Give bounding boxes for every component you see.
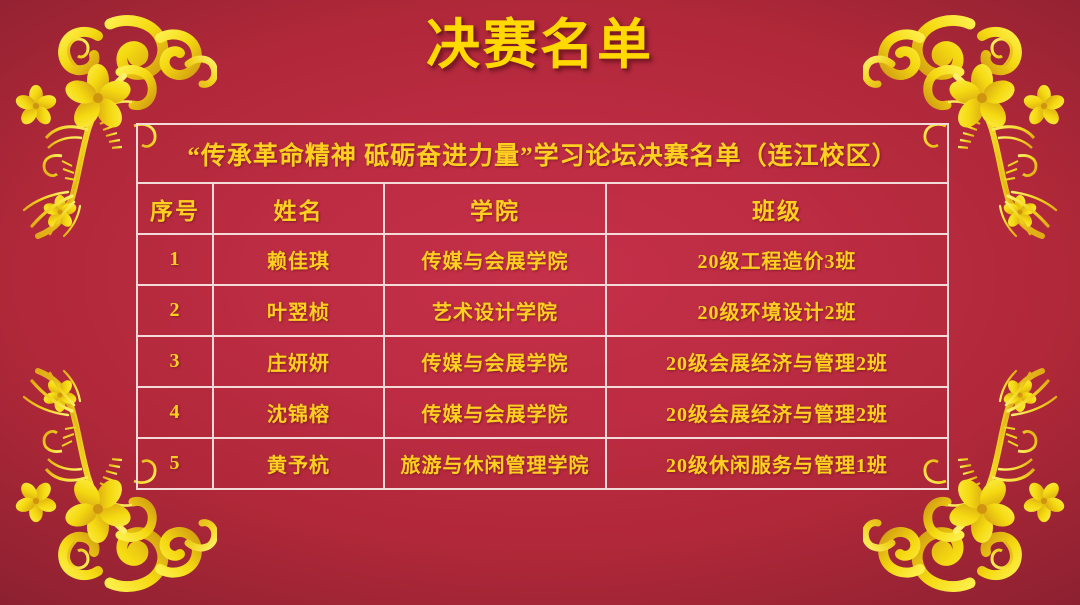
cell-class: 20级环境设计2班 bbox=[606, 285, 948, 336]
column-header-college: 学院 bbox=[384, 183, 606, 234]
cell-index: 3 bbox=[137, 336, 213, 387]
slide-canvas: 决赛名单 “传承革命精神 砥砺奋进力量”学习论坛决赛名单（连江校区） 序号 姓名… bbox=[0, 0, 1080, 605]
cell-class: 20级工程造价3班 bbox=[606, 234, 948, 285]
cell-class: 20级休闲服务与管理1班 bbox=[606, 438, 948, 489]
cell-college: 艺术设计学院 bbox=[384, 285, 606, 336]
page-title: 决赛名单 bbox=[0, 14, 1080, 76]
cell-index: 4 bbox=[137, 387, 213, 438]
cell-name: 赖佳琪 bbox=[213, 234, 384, 285]
cell-index: 1 bbox=[137, 234, 213, 285]
column-header-index: 序号 bbox=[137, 183, 213, 234]
cell-college: 传媒与会展学院 bbox=[384, 336, 606, 387]
table-row: 5 黄予杭 旅游与休闲管理学院 20级休闲服务与管理1班 bbox=[137, 438, 948, 489]
table-caption-row: “传承革命精神 砥砺奋进力量”学习论坛决赛名单（连江校区） bbox=[137, 124, 948, 183]
table-header-row: 序号 姓名 学院 班级 bbox=[137, 183, 948, 234]
cell-index: 2 bbox=[137, 285, 213, 336]
cell-name: 庄妍妍 bbox=[213, 336, 384, 387]
table-caption: “传承革命精神 砥砺奋进力量”学习论坛决赛名单（连江校区） bbox=[137, 124, 948, 183]
cell-index: 5 bbox=[137, 438, 213, 489]
cell-college: 旅游与休闲管理学院 bbox=[384, 438, 606, 489]
table-row: 1 赖佳琪 传媒与会展学院 20级工程造价3班 bbox=[137, 234, 948, 285]
cell-class: 20级会展经济与管理2班 bbox=[606, 336, 948, 387]
cell-name: 黄予杭 bbox=[213, 438, 384, 489]
table-row: 4 沈锦榕 传媒与会展学院 20级会展经济与管理2班 bbox=[137, 387, 948, 438]
column-header-name: 姓名 bbox=[213, 183, 384, 234]
cell-class: 20级会展经济与管理2班 bbox=[606, 387, 948, 438]
table-row: 3 庄妍妍 传媒与会展学院 20级会展经济与管理2班 bbox=[137, 336, 948, 387]
cell-college: 传媒与会展学院 bbox=[384, 387, 606, 438]
finalists-table: “传承革命精神 砥砺奋进力量”学习论坛决赛名单（连江校区） 序号 姓名 学院 班… bbox=[136, 123, 949, 490]
column-header-class: 班级 bbox=[606, 183, 948, 234]
table-row: 2 叶翌桢 艺术设计学院 20级环境设计2班 bbox=[137, 285, 948, 336]
cell-name: 沈锦榕 bbox=[213, 387, 384, 438]
cell-name: 叶翌桢 bbox=[213, 285, 384, 336]
cell-college: 传媒与会展学院 bbox=[384, 234, 606, 285]
